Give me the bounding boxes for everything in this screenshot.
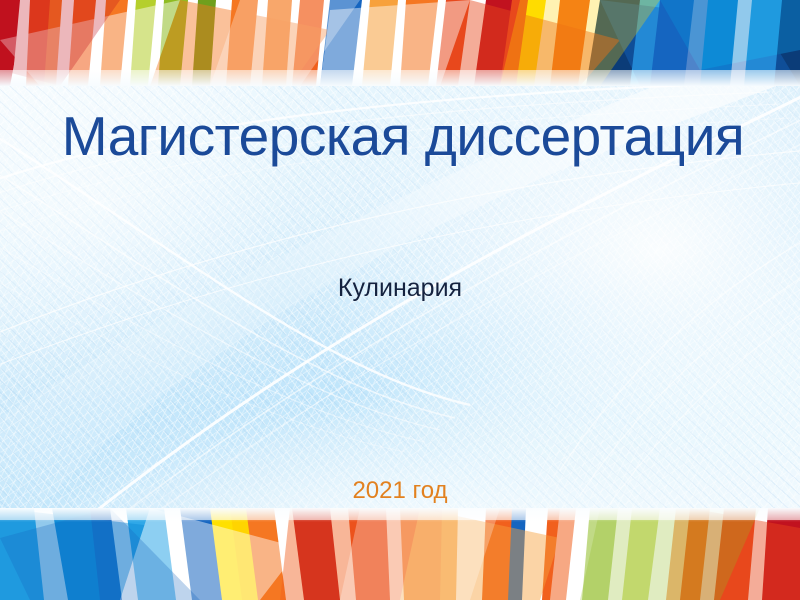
slide-year: 2021 год [0,476,800,506]
decorative-band-bottom [0,508,800,600]
slide-subtitle: Кулинария [0,272,800,304]
decorative-band-top [0,0,800,86]
presentation-slide: Магистерская диссертация Кулинария 2021 … [0,0,800,600]
slide-title: Магистерская диссертация [8,104,798,168]
